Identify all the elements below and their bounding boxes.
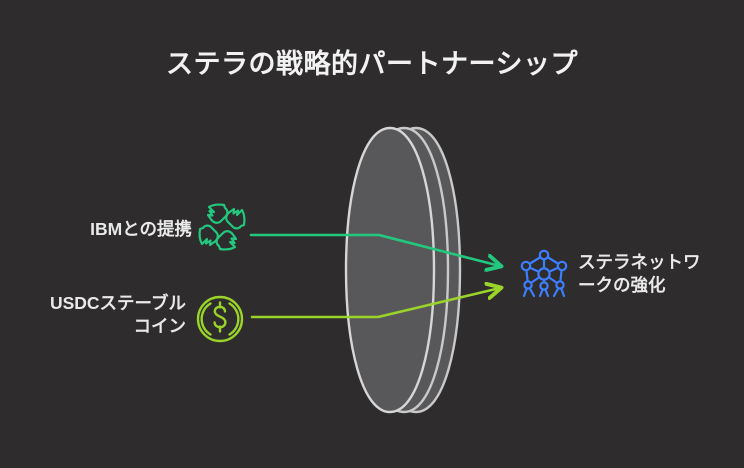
label-stellar-network: ステラネットワ ークの強化 — [578, 251, 738, 297]
page-title: ステラの戦略的パートナーシップ — [0, 42, 744, 81]
label-ibm-partnership: IBMとの提携 — [0, 218, 192, 241]
label-usdc-stablecoin: USDCステーブル コイン — [0, 292, 186, 338]
dollar-coin-icon — [192, 291, 248, 347]
label-network-line1: ステラネットワ — [578, 251, 738, 274]
network-nodes-icon — [516, 246, 572, 302]
coin-left-arc — [202, 304, 211, 335]
label-network-line2: ークの強化 — [578, 274, 738, 297]
disc-front-face — [346, 128, 434, 412]
stellar-disc — [338, 120, 468, 420]
label-usdc-line1: USDCステーブル — [0, 292, 186, 315]
coin-right-arc — [230, 304, 239, 335]
label-usdc-line2: コイン — [0, 315, 186, 338]
slide-canvas: ステラの戦略的パートナーシップ IBMとの提携 USDCス — [0, 0, 744, 468]
handshake-teamwork-icon — [194, 198, 250, 256]
label-ibm-text: IBMとの提携 — [90, 219, 192, 239]
